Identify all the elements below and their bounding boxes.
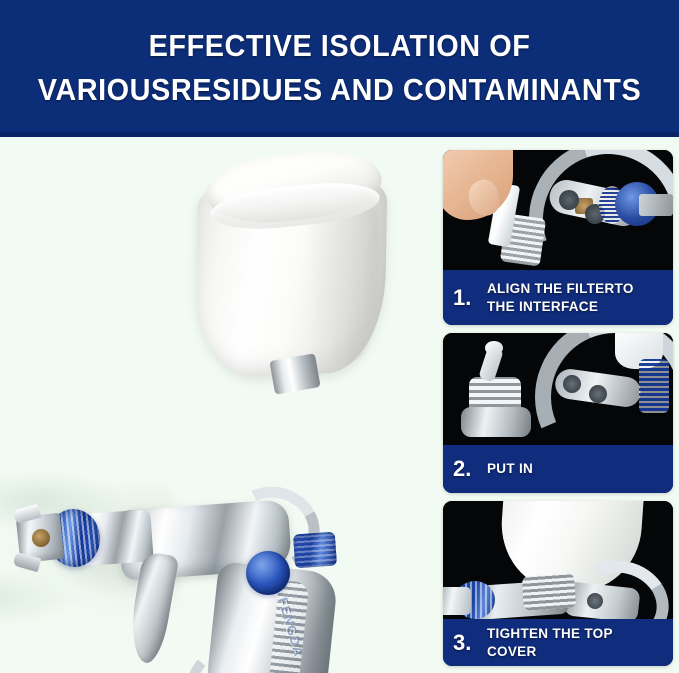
- step-1-label: 1. ALIGN THE FILTERTO THE INTERFACE: [443, 270, 673, 325]
- filter-stem-tip: [485, 341, 503, 355]
- port-hole: [587, 593, 603, 609]
- product-infographic: EFFECTIVE ISOLATION OF VARIOUSRESIDUES A…: [0, 0, 679, 673]
- step-1-text: ALIGN THE FILTERTO THE INTERFACE: [487, 280, 665, 316]
- inlet-collar: [461, 407, 531, 437]
- step-cards: 1. ALIGN THE FILTERTO THE INTERFACE 2. P…: [443, 150, 673, 666]
- step-2-text: PUT IN: [487, 460, 533, 478]
- step-3-text: TIGHTEN THE TOP COVER: [487, 625, 665, 661]
- step-2-number: 2.: [453, 456, 487, 482]
- cup-neck-thread: [522, 573, 576, 611]
- step-card-2[interactable]: 2. PUT IN: [443, 333, 673, 493]
- step-2-label: 2. PUT IN: [443, 445, 673, 493]
- port-hole-lower: [589, 385, 607, 403]
- blue-knurled-knob: [639, 359, 669, 413]
- step-card-3[interactable]: 3. TIGHTEN THE TOP COVER: [443, 501, 673, 666]
- step-card-1[interactable]: 1. ALIGN THE FILTERTO THE INTERFACE: [443, 150, 673, 325]
- air-cap: [443, 587, 471, 615]
- product-photo-stage: FENGDA: [0, 142, 435, 673]
- fan-control-knob: [246, 551, 290, 595]
- air-inlet-knob: [293, 532, 337, 569]
- header-banner: EFFECTIVE ISOLATION OF VARIOUSRESIDUES A…: [0, 0, 679, 137]
- hand-aligning-filter-photo: [443, 150, 673, 270]
- step-1-number: 1.: [453, 285, 487, 311]
- paint-cup: [188, 152, 393, 377]
- port-hole-upper: [563, 375, 581, 393]
- chrome-tab: [639, 194, 673, 216]
- header-title-line-1: EFFECTIVE ISOLATION OF: [24, 28, 655, 64]
- step-3-number: 3.: [453, 630, 487, 656]
- filter-inserted-photo: [443, 333, 673, 445]
- step-3-label: 3. TIGHTEN THE TOP COVER: [443, 619, 673, 666]
- header-title-line-2: VARIOUSRESIDUES AND CONTAMINANTS: [24, 72, 655, 108]
- port-hole-upper: [559, 190, 579, 210]
- fluid-tip: [32, 529, 50, 547]
- spray-gun: FENGDA: [10, 357, 390, 667]
- tighten-top-cover-photo: [443, 501, 673, 619]
